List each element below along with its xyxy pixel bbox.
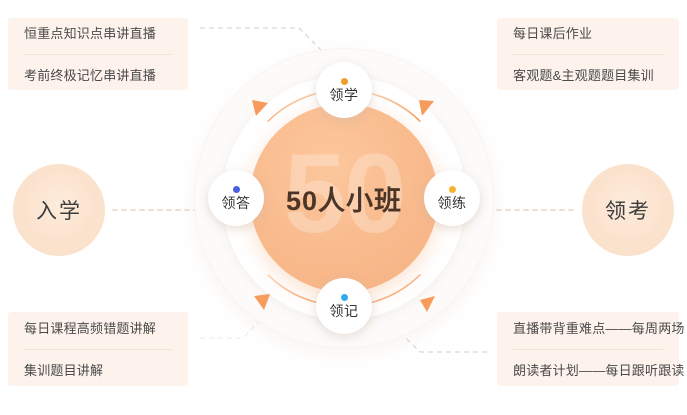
node-label: 领练 xyxy=(438,196,467,210)
node-lead-note[interactable]: 领记 xyxy=(316,278,372,334)
node-label: 领记 xyxy=(330,304,359,318)
info-box-bottom-right: 直播带背重难点——每周两场 朗读者计划——每日跟听跟读 xyxy=(497,312,679,386)
info-box-top-right: 每日课后作业 客观题&主观题题目集训 xyxy=(497,18,679,90)
info-box-bottom-left: 每日课程高频错题讲解 集训题目讲解 xyxy=(8,312,188,386)
info-row: 直播带背重难点——每周两场 xyxy=(513,308,663,349)
status-dot-icon xyxy=(449,186,456,193)
status-dot-icon xyxy=(233,186,240,193)
status-dot-icon xyxy=(341,294,348,301)
badge-exam-label: 领考 xyxy=(605,195,651,225)
node-lead-train[interactable]: 领练 xyxy=(424,170,480,226)
info-row: 每日课后作业 xyxy=(513,13,663,54)
center-label: 50人小班 xyxy=(286,179,402,218)
badge-entry[interactable]: 入学 xyxy=(13,164,105,256)
info-row: 考前终极记忆串讲直播 xyxy=(24,54,172,96)
badge-entry-label: 入学 xyxy=(36,195,82,225)
orbit-system: 50 50人小班 领学 领练 领记 领答 xyxy=(194,48,494,348)
node-lead-study[interactable]: 领学 xyxy=(316,62,372,118)
badge-exam[interactable]: 领考 xyxy=(582,164,674,256)
info-row: 集训题目讲解 xyxy=(24,349,172,391)
node-lead-answer[interactable]: 领答 xyxy=(208,170,264,226)
center-circle: 50 50人小班 xyxy=(250,104,438,292)
info-box-top-left: 恒重点知识点串讲直播 考前终极记忆串讲直播 xyxy=(8,18,188,90)
info-row: 恒重点知识点串讲直播 xyxy=(24,13,172,54)
status-dot-icon xyxy=(341,78,348,85)
info-row: 客观题&主观题题目集训 xyxy=(513,54,663,96)
diagram-canvas: 恒重点知识点串讲直播 考前终极记忆串讲直播 每日课后作业 客观题&主观题题目集训… xyxy=(0,0,687,415)
info-row: 每日课程高频错题讲解 xyxy=(24,308,172,349)
node-label: 领答 xyxy=(222,196,251,210)
info-row: 朗读者计划——每日跟听跟读 xyxy=(513,349,663,391)
node-label: 领学 xyxy=(330,88,359,102)
